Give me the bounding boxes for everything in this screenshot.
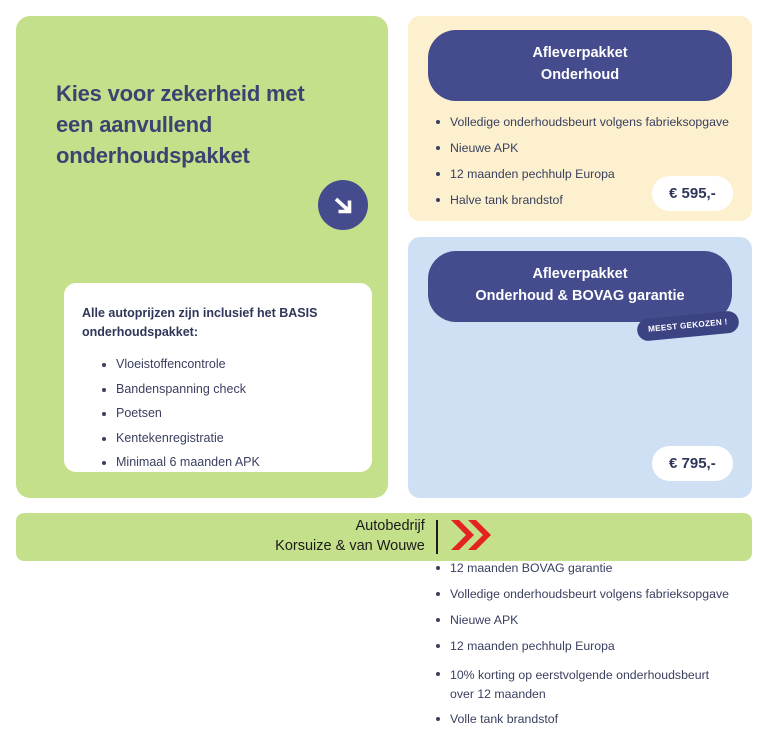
- package-title-line1: Afleverpakket: [438, 264, 722, 286]
- package-feature-list-bovag: 12 maanden BOVAG garantie Volledige onde…: [434, 562, 734, 739]
- list-item: 12 maanden pechhulp Europa: [434, 640, 734, 653]
- list-item: 10% korting op eerstvolgende onderhoudsb…: [434, 666, 734, 704]
- list-item: Bandenspanning check: [100, 383, 260, 396]
- package-title-line2: Onderhoud: [438, 65, 722, 87]
- company-name-line1: Autobedrijf: [275, 517, 425, 537]
- list-item: Nieuwe APK: [434, 614, 734, 627]
- list-item: Kentekenregistratie: [100, 432, 260, 445]
- list-item: Nieuwe APK: [434, 142, 734, 155]
- page-title: Kies voor zekerheid met een aanvullend o…: [56, 78, 336, 172]
- list-item: Vloeistoffencontrole: [100, 358, 260, 371]
- footer-bar: Autobedrijf Korsuize & van Wouwe: [16, 513, 752, 561]
- package-card-bovag: Afleverpakket Onderhoud & BOVAG garantie…: [408, 237, 752, 498]
- hero-panel: Kies voor zekerheid met een aanvullend o…: [16, 16, 388, 498]
- double-chevron-right-icon: [449, 518, 493, 557]
- package-title-line2: Onderhoud & BOVAG garantie: [438, 286, 722, 308]
- price-badge-bovag: € 795,-: [652, 446, 733, 481]
- company-name: Autobedrijf Korsuize & van Wouwe: [275, 517, 425, 556]
- basis-feature-list: Vloeistoffencontrole Bandenspanning chec…: [100, 358, 260, 481]
- package-header-bovag: Afleverpakket Onderhoud & BOVAG garantie: [428, 251, 732, 322]
- list-item: Minimaal 6 maanden APK: [100, 456, 260, 469]
- company-name-line2: Korsuize & van Wouwe: [275, 537, 425, 557]
- list-item: Volle tank brandstof: [434, 713, 734, 726]
- arrow-down-right-icon: [318, 180, 368, 230]
- list-item: 12 maanden BOVAG garantie: [434, 562, 734, 575]
- package-card-onderhoud: Afleverpakket Onderhoud Volledige onderh…: [408, 16, 752, 221]
- divider: [436, 520, 438, 554]
- basis-package-card: Alle autoprijzen zijn inclusief het BASI…: [64, 283, 372, 472]
- promo-flyer: Kies voor zekerheid met een aanvullend o…: [0, 0, 768, 576]
- package-title-line1: Afleverpakket: [438, 43, 722, 65]
- basis-card-title: Alle autoprijzen zijn inclusief het BASI…: [82, 304, 352, 342]
- list-item: Poetsen: [100, 407, 260, 420]
- package-header-onderhoud: Afleverpakket Onderhoud: [428, 30, 732, 101]
- list-item: Volledige onderhoudsbeurt volgens fabrie…: [434, 116, 734, 129]
- price-badge-onderhoud: € 595,-: [652, 176, 733, 211]
- list-item: Volledige onderhoudsbeurt volgens fabrie…: [434, 588, 734, 601]
